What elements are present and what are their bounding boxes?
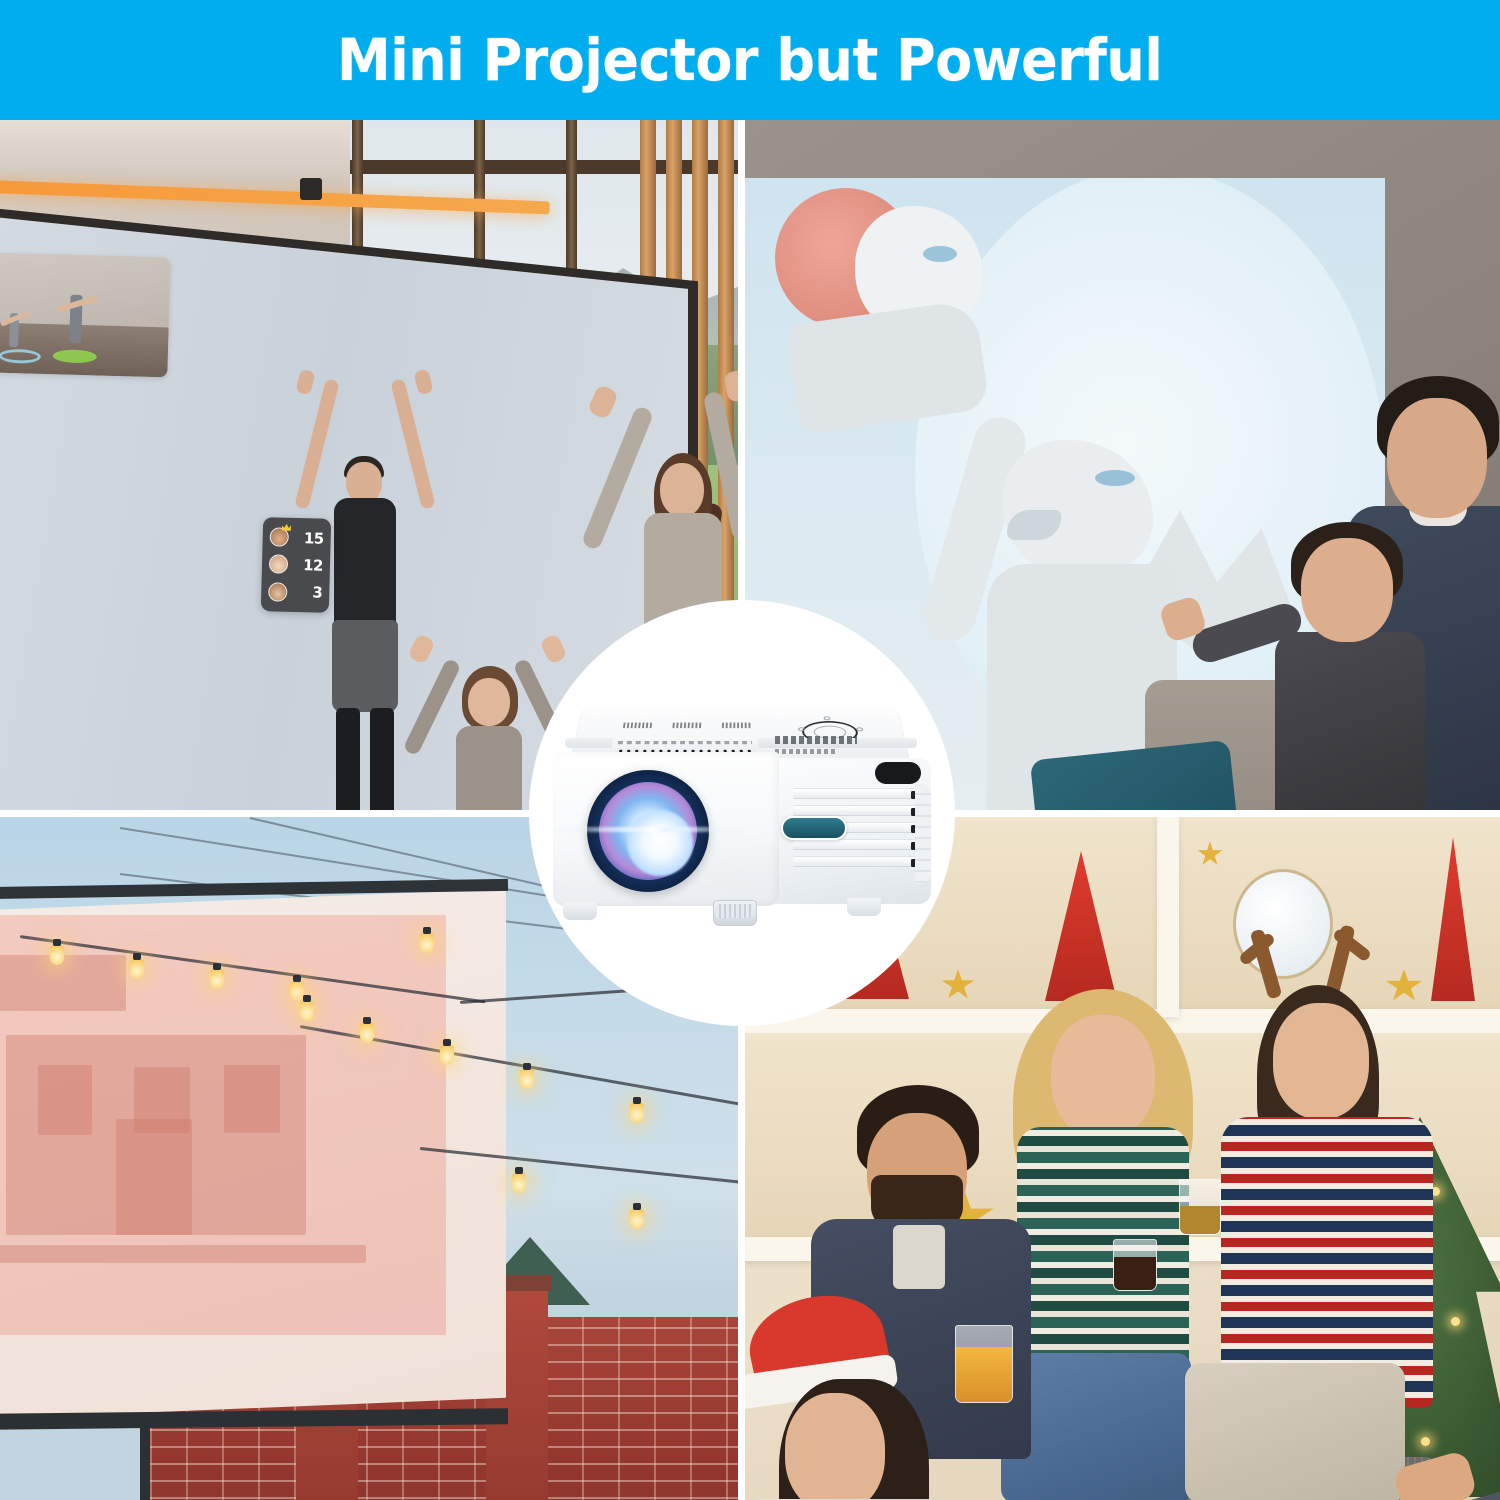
product-marketing-image: Mini Projector but Powerful xyxy=(0,0,1500,1500)
child-watching xyxy=(1243,520,1483,810)
light-bulb-icon xyxy=(512,1173,526,1193)
scoreboard-row: 3 xyxy=(268,582,322,602)
usb-port-label xyxy=(672,723,701,729)
light-bulb-icon xyxy=(130,959,144,979)
page-title: Mini Projector but Powerful xyxy=(337,26,1162,94)
projector-lens xyxy=(587,770,709,892)
projector-front-panel xyxy=(553,752,779,906)
pointing-hand xyxy=(1392,1449,1478,1500)
picture-in-picture-thumbnail xyxy=(0,253,171,378)
projector-foot xyxy=(847,898,881,916)
light-bulb-icon xyxy=(300,1001,314,1021)
lens-core-light xyxy=(627,810,693,876)
score-value: 12 xyxy=(303,556,323,575)
hdmi-port-label xyxy=(623,723,652,729)
scoreboard-row: 15 xyxy=(269,527,323,547)
product-circle-badge xyxy=(529,600,955,1026)
dpad-left-icon[interactable] xyxy=(798,727,805,731)
keystone-adjust-knob[interactable] xyxy=(713,900,757,926)
light-bulb-icon xyxy=(440,1045,454,1065)
focus-slider[interactable] xyxy=(781,816,847,840)
projector-side-panel xyxy=(775,758,931,904)
light-bulb-icon xyxy=(360,1023,374,1043)
avatar xyxy=(269,527,288,546)
scoreboard-row: 12 xyxy=(269,555,323,575)
light-bulb-icon xyxy=(50,945,64,965)
avatar xyxy=(269,555,288,574)
light-bulb-icon xyxy=(290,981,304,1001)
score-value: 15 xyxy=(304,529,324,548)
header-banner: Mini Projector but Powerful xyxy=(0,0,1500,120)
dpad-right-icon[interactable] xyxy=(856,727,863,731)
projector-foot xyxy=(563,902,597,920)
screen-mount-top-icon xyxy=(300,178,322,200)
light-bulb-icon xyxy=(420,933,434,953)
lens-flare xyxy=(545,827,751,832)
score-value: 3 xyxy=(312,584,322,602)
screen-tripod-stand xyxy=(56,1423,236,1500)
mini-projector-product xyxy=(547,678,937,950)
light-bulb-icon xyxy=(210,969,224,989)
avatar xyxy=(268,582,287,601)
dpad-up-icon[interactable] xyxy=(823,716,830,720)
scoreboard-panel: 15 12 3 xyxy=(261,517,331,613)
man-pointing xyxy=(1175,1287,1500,1500)
crown-icon xyxy=(282,524,291,531)
port-label-group xyxy=(623,723,766,731)
brand-marking xyxy=(775,736,859,758)
woman-santa-hat xyxy=(745,1287,1095,1500)
light-bulb-icon xyxy=(520,1069,534,1089)
side-ribs xyxy=(915,784,931,884)
av-port-label xyxy=(722,723,751,729)
cartoon-character-upper xyxy=(755,188,1035,448)
light-bulb-icon xyxy=(630,1209,644,1229)
ir-sensor-window xyxy=(875,762,921,784)
light-bulb-icon xyxy=(630,1103,644,1123)
